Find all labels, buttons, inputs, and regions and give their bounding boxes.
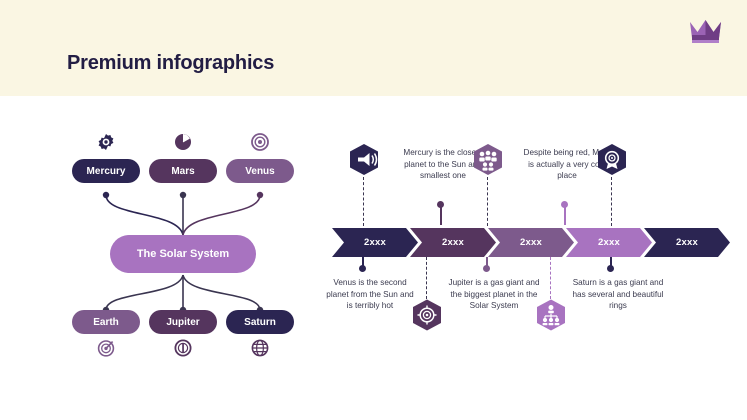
timeline-text-below-5: Saturn is a gas giant and has several an… [572,277,664,312]
pie-chart-icon [174,133,192,151]
pin-dot [483,265,490,272]
mindmap-node-center[interactable]: The Solar System [110,235,256,273]
node-label: Jupiter [166,317,199,328]
node-label: Mercury [87,166,126,177]
mindmap-node-mars[interactable]: Mars [149,159,217,183]
mindmap-node-earth[interactable]: Earth [72,310,140,334]
timeline-text-below-3: Jupiter is a gas giant and the biggest p… [448,277,540,312]
pin-stem [440,205,442,225]
target-circle-icon [251,133,269,151]
connector-dash [363,177,364,226]
mindmap-diagram: Mercury Mars Venus The Solar System Eart… [60,125,325,360]
crosshair-icon [411,297,443,332]
timeline-step-3-label: 2xxx [488,228,574,257]
node-label: The Solar System [137,248,229,260]
slide-canvas: Premium infographics [0,0,747,420]
mindmap-node-venus[interactable]: Venus [226,159,294,183]
timeline-step-1-label: 2xxx [332,228,418,257]
megaphone-icon [348,143,380,178]
page-title: Premium infographics [67,52,274,75]
group-icon [472,143,504,178]
timeline-step-5-label: 2xxx [644,228,730,257]
timeline-infographic: Mercury is the closest planet to the Sun… [332,125,727,360]
pin-dot [359,265,366,272]
pin-stem [564,205,566,225]
timeline-text-below-1: Venus is the second planet from the Sun … [324,277,416,312]
crown-logo [689,17,722,45]
node-label: Earth [93,317,119,328]
pin-dot [607,265,614,272]
globe-grid-icon [251,339,269,357]
slide-header: Premium infographics [0,0,747,96]
mindmap-node-jupiter[interactable]: Jupiter [149,310,217,334]
timeline-step-4-label: 2xxx [566,228,652,257]
pin-dot [561,201,568,208]
connector-dash [611,177,612,226]
pin-dot [437,201,444,208]
connector-dash [550,257,551,299]
award-icon [596,143,628,178]
connector-dash [487,177,488,226]
mindmap-node-saturn[interactable]: Saturn [226,310,294,334]
node-label: Mars [171,166,194,177]
timeline-step-2-label: 2xxx [410,228,496,257]
gear-icon [97,133,115,151]
node-label: Venus [245,166,274,177]
coin-icon [174,339,192,357]
node-label: Saturn [244,317,276,328]
connector-dash [426,257,427,299]
hierarchy-icon [535,297,567,332]
mindmap-node-mercury[interactable]: Mercury [72,159,140,183]
radar-icon [97,339,115,357]
